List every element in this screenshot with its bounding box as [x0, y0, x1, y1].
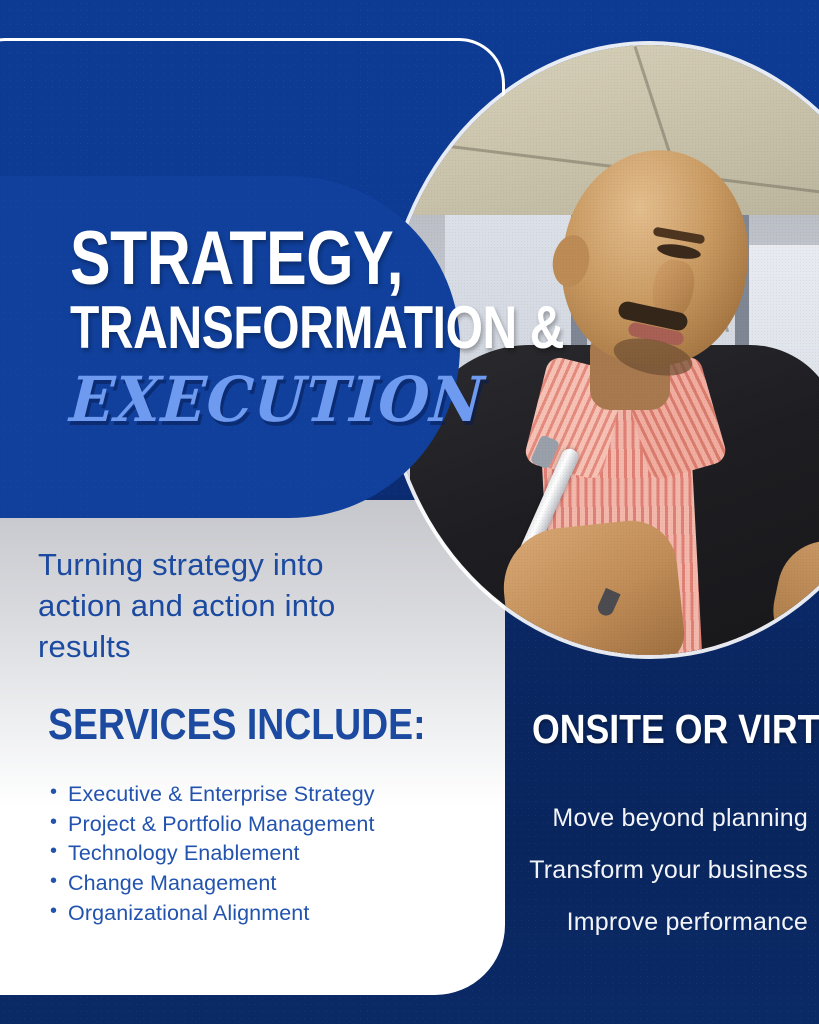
headline-group: STRATEGY, TRANSFORMATION & EXECUTION — [70, 176, 470, 518]
delivery-mode-heading: ONSITE OR VIRTUAL — [532, 706, 819, 753]
list-item: Project & Portfolio Management — [46, 810, 446, 840]
list-item: Change Management — [46, 869, 446, 899]
list-item: Executive & Enterprise Strategy — [46, 780, 446, 810]
services-list: Executive & Enterprise Strategy Project … — [46, 780, 446, 928]
headline-line-3-script: EXECUTION — [68, 369, 448, 431]
list-item: Organizational Alignment — [46, 899, 446, 929]
poster-canvas: STRATEGY, TRANSFORMATION & EXECUTION Tur… — [0, 0, 819, 1024]
list-item: Improve performance — [508, 910, 808, 935]
benefits-list: Move beyond planning Transform your busi… — [508, 806, 808, 935]
services-heading: SERVICES INCLUDE: — [48, 700, 426, 750]
headline-line-2: TRANSFORMATION & — [70, 300, 390, 355]
list-item: Technology Enablement — [46, 839, 446, 869]
list-item: Move beyond planning — [508, 806, 808, 831]
headline-line-1: STRATEGY, — [70, 224, 390, 294]
subtitle-tagline: Turning strategy into action and action … — [38, 545, 378, 668]
list-item: Transform your business — [508, 858, 808, 883]
